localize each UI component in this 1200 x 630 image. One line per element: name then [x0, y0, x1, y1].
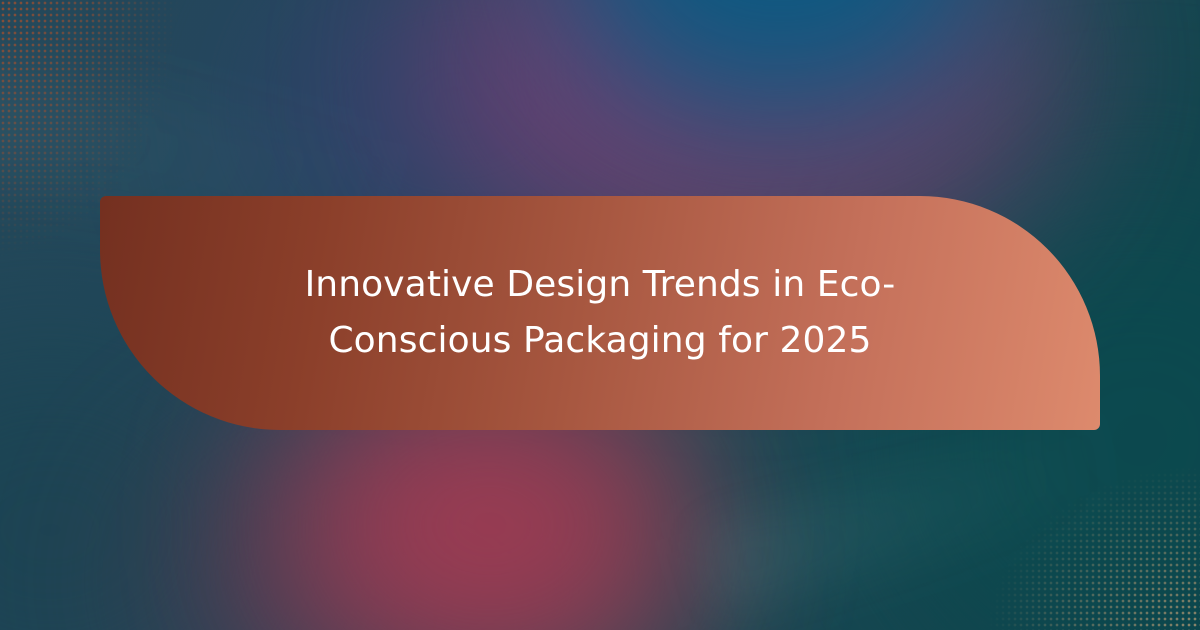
share-card-canvas: Innovative Design Trends in Eco-Consciou… — [0, 0, 1200, 630]
title-banner: Innovative Design Trends in Eco-Consciou… — [100, 196, 1100, 430]
page-title: Innovative Design Trends in Eco-Consciou… — [230, 257, 970, 369]
halftone-dots-bottom-right — [940, 430, 1200, 630]
